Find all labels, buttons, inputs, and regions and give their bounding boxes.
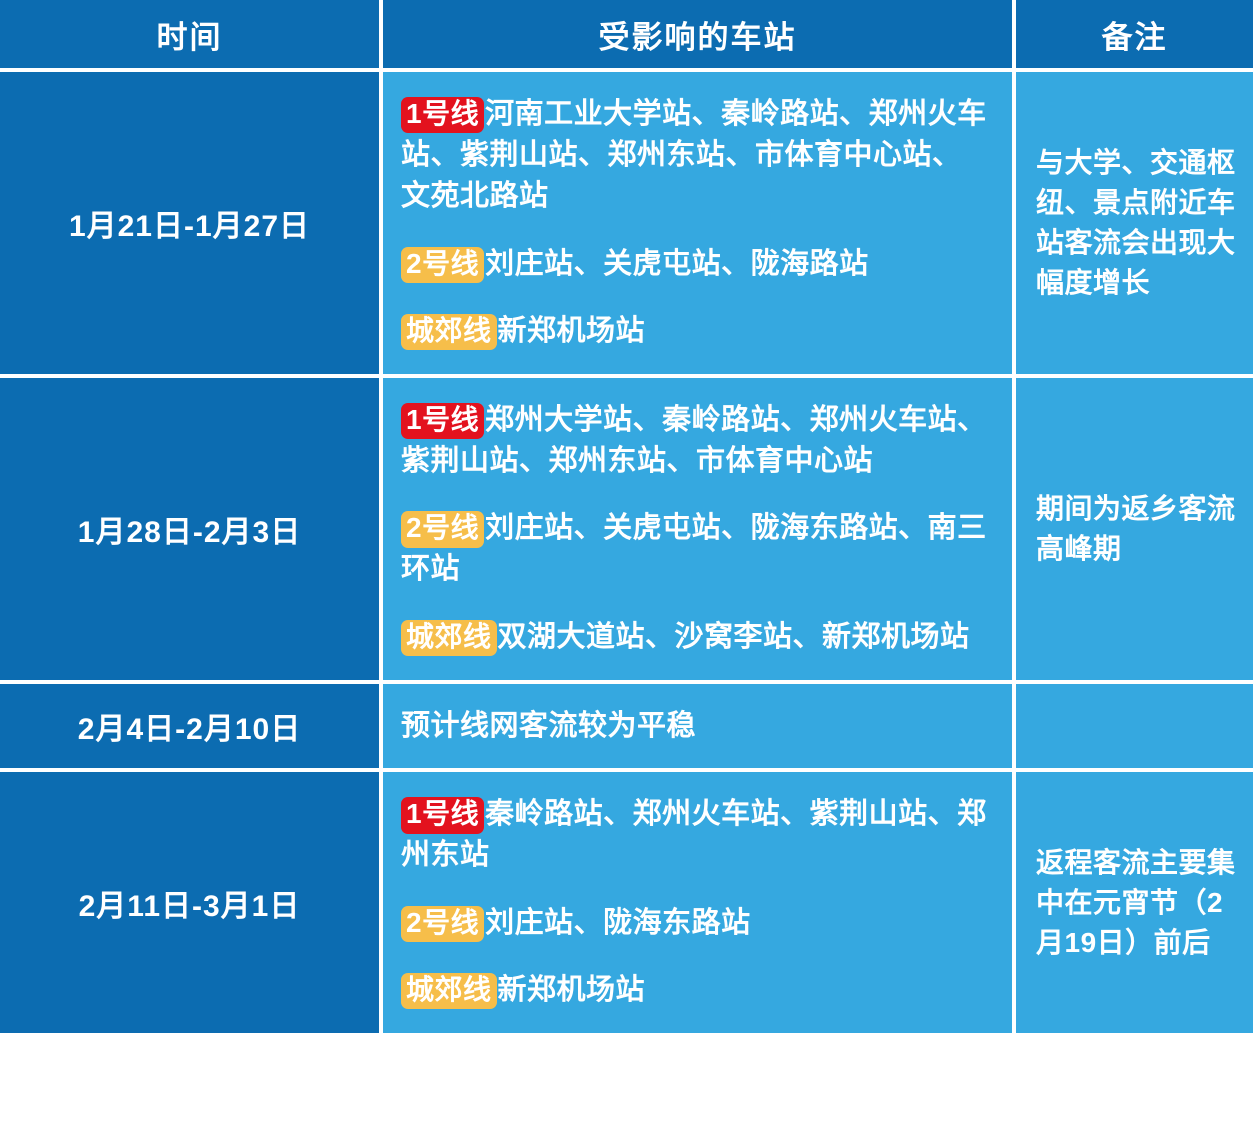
line-entry: 城郊线新郑机场站 — [401, 970, 988, 1011]
cell-time: 2月11日-3月1日 — [0, 772, 383, 1033]
line-badge-line1: 1号线 — [401, 403, 484, 439]
line-badge-suburb: 城郊线 — [401, 973, 497, 1009]
header-row: 时间 受影响的车站 备注 — [0, 0, 1253, 72]
cell-remark: 期间为返乡客流高峰期 — [1016, 378, 1253, 684]
line-entry: 2号线刘庄站、关虎屯站、陇海东路站、南三环站 — [401, 508, 988, 590]
metro-passenger-flow-table-container: 时间 受影响的车站 备注 1月21日-1月27日 1号线河南工业大学站、秦岭路站… — [0, 0, 1253, 1129]
column-header-remark: 备注 — [1016, 0, 1253, 72]
line-badge-suburb: 城郊线 — [401, 620, 497, 656]
line-badge-line1: 1号线 — [401, 797, 484, 833]
station-list: 新郑机场站 — [498, 974, 646, 1006]
line-badge-line2: 2号线 — [401, 247, 484, 283]
cell-remark: 与大学、交通枢纽、景点附近车站客流会出现大幅度增长 — [1016, 72, 1253, 378]
line-entry: 2号线刘庄站、陇海东路站 — [401, 903, 988, 944]
line-entry: 2号线刘庄站、关虎屯站、陇海路站 — [401, 244, 988, 285]
station-list: 郑州大学站、秦岭路站、郑州火车站、紫荆山站、郑州东站、市体育中心站 — [401, 404, 987, 477]
stations-plain-text: 预计线网客流较为平稳 — [401, 706, 988, 747]
column-header-stations: 受影响的车站 — [383, 0, 1016, 72]
cell-stations: 1号线秦岭路站、郑州火车站、紫荆山站、郑州东站 2号线刘庄站、陇海东路站 城郊线… — [383, 772, 1016, 1033]
line-badge-line2: 2号线 — [401, 906, 484, 942]
station-list: 新郑机场站 — [498, 315, 646, 347]
cell-remark — [1016, 684, 1253, 773]
metro-passenger-flow-table: 时间 受影响的车站 备注 1月21日-1月27日 1号线河南工业大学站、秦岭路站… — [0, 0, 1253, 1033]
cell-stations: 1号线河南工业大学站、秦岭路站、郑州火车站、紫荆山站、郑州东站、市体育中心站、文… — [383, 72, 1016, 378]
line-badge-line2: 2号线 — [401, 511, 484, 547]
station-list: 河南工业大学站、秦岭路站、郑州火车站、紫荆山站、郑州东站、市体育中心站、文苑北路… — [401, 98, 987, 212]
line-badge-suburb: 城郊线 — [401, 314, 497, 350]
cell-stations: 1号线郑州大学站、秦岭路站、郑州火车站、紫荆山站、郑州东站、市体育中心站 2号线… — [383, 378, 1016, 684]
table-row: 2月11日-3月1日 1号线秦岭路站、郑州火车站、紫荆山站、郑州东站 2号线刘庄… — [0, 772, 1253, 1033]
cell-stations: 预计线网客流较为平稳 — [383, 684, 1016, 773]
cell-time: 1月28日-2月3日 — [0, 378, 383, 684]
cell-time: 2月4日-2月10日 — [0, 684, 383, 773]
cell-remark: 返程客流主要集中在元宵节（2月19日）前后 — [1016, 772, 1253, 1033]
line-entry: 1号线河南工业大学站、秦岭路站、郑州火车站、紫荆山站、郑州东站、市体育中心站、文… — [401, 94, 988, 218]
station-list: 刘庄站、关虎屯站、陇海东路站、南三环站 — [401, 512, 987, 585]
table-body: 1月21日-1月27日 1号线河南工业大学站、秦岭路站、郑州火车站、紫荆山站、郑… — [0, 72, 1253, 1033]
station-list: 刘庄站、陇海东路站 — [485, 907, 751, 939]
line-entry: 1号线郑州大学站、秦岭路站、郑州火车站、紫荆山站、郑州东站、市体育中心站 — [401, 400, 988, 482]
cell-time: 1月21日-1月27日 — [0, 72, 383, 378]
station-list: 双湖大道站、沙窝李站、新郑机场站 — [498, 621, 970, 653]
line-entry: 1号线秦岭路站、郑州火车站、紫荆山站、郑州东站 — [401, 794, 988, 876]
line-badge-line1: 1号线 — [401, 97, 484, 133]
table-header: 时间 受影响的车站 备注 — [0, 0, 1253, 72]
line-entry: 城郊线新郑机场站 — [401, 311, 988, 352]
table-row: 2月4日-2月10日 预计线网客流较为平稳 — [0, 684, 1253, 773]
table-row: 1月21日-1月27日 1号线河南工业大学站、秦岭路站、郑州火车站、紫荆山站、郑… — [0, 72, 1253, 378]
column-header-time: 时间 — [0, 0, 383, 72]
station-list: 秦岭路站、郑州火车站、紫荆山站、郑州东站 — [401, 798, 987, 871]
table-row: 1月28日-2月3日 1号线郑州大学站、秦岭路站、郑州火车站、紫荆山站、郑州东站… — [0, 378, 1253, 684]
station-list: 刘庄站、关虎屯站、陇海路站 — [485, 248, 869, 280]
line-entry: 城郊线双湖大道站、沙窝李站、新郑机场站 — [401, 617, 988, 658]
